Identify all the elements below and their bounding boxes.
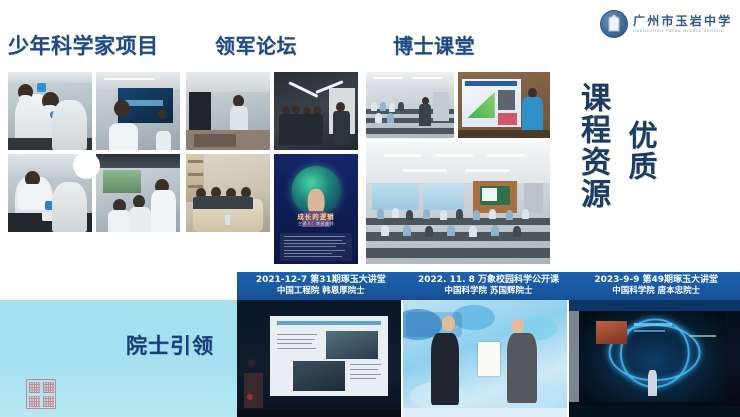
caption-line2: 中国工程院 韩恩厚院士 (277, 286, 365, 296)
vertical-title-course-resources: 课程资源 (570, 82, 614, 210)
photo-group-walking-in-dark-corridor (274, 72, 358, 150)
school-logo-text: 广州市玉岩中学 GUANGZHOU YUYAN MIDDLE SCHOOL (633, 15, 732, 33)
poster-text-block (280, 233, 352, 261)
caption-line1: 2022. 11. 8 万象校园科学公开课 (418, 275, 559, 286)
poster-subtitle: 主讲人：李昌盛师 (274, 221, 358, 227)
caption-line1: 2023-9-9 第49期琢玉大讲堂 (594, 275, 718, 286)
photo-class-doing-lab-experiment (96, 154, 180, 232)
poster-title: 成长的逻辑 (274, 211, 358, 221)
school-crest-icon (600, 10, 628, 38)
heading-academician-leadership: 院士引领 (126, 330, 214, 360)
heading-young-scientist-program: 少年科学家项目 (8, 30, 159, 60)
caption-bar: 2021-12-7 第31期琢玉大讲堂 中国工程院 韩恩厚院士 2022. 11… (237, 272, 740, 300)
school-logo: 广州市玉岩中学 GUANGZHOU YUYAN MIDDLE SCHOOL (600, 10, 732, 38)
caption-item: 2022. 11. 8 万象校园科学公开课 中国科学院 苏国辉院士 (405, 272, 573, 300)
photo-student-presenting-at-smartboard (96, 72, 180, 150)
photo-academician-lecture-on-stage (237, 300, 401, 417)
school-name-cn: 广州市玉岩中学 (633, 15, 732, 27)
caption-line2: 中国科学院 唐本忠院士 (612, 286, 700, 296)
vertical-title-high-quality: 优质 (620, 120, 662, 182)
photo-lecture-theatre-with-speaker (366, 72, 454, 138)
heading-leaders-forum: 领军论坛 (215, 30, 297, 59)
red-seal-stamp-icon (26, 379, 56, 409)
photo-speaker-in-small-lecture-room (186, 72, 270, 150)
photo-tech-stage-molecule-screen (569, 300, 740, 417)
photo-forum-poster-growth-logic: 成长的逻辑 主讲人：李昌盛师 (274, 154, 358, 264)
slide-canvas: 广州市玉岩中学 GUANGZHOU YUYAN MIDDLE SCHOOL 少年… (0, 0, 740, 417)
photo-open-science-class-backdrop (403, 300, 567, 417)
photo-roundtable-discussion-meeting (186, 154, 270, 232)
photo-students-pipetting-in-lab (8, 72, 92, 150)
decorative-white-circle (73, 152, 100, 179)
photo-presenter-with-data-slide (458, 72, 550, 138)
caption-item: 2021-12-7 第31期琢玉大讲堂 中国工程院 韩恩厚院士 (237, 272, 405, 300)
caption-line2: 中国科学院 苏国辉院士 (445, 286, 533, 296)
school-name-en: GUANGZHOU YUYAN MIDDLE SCHOOL (633, 30, 732, 33)
caption-line1: 2021-12-7 第31期琢玉大讲堂 (256, 275, 386, 286)
photo-large-classroom-panorama (366, 142, 550, 264)
heading-doctor-classroom: 博士课堂 (393, 30, 475, 59)
caption-item: 2023-9-9 第49期琢玉大讲堂 中国科学院 唐本忠院士 (572, 272, 740, 300)
